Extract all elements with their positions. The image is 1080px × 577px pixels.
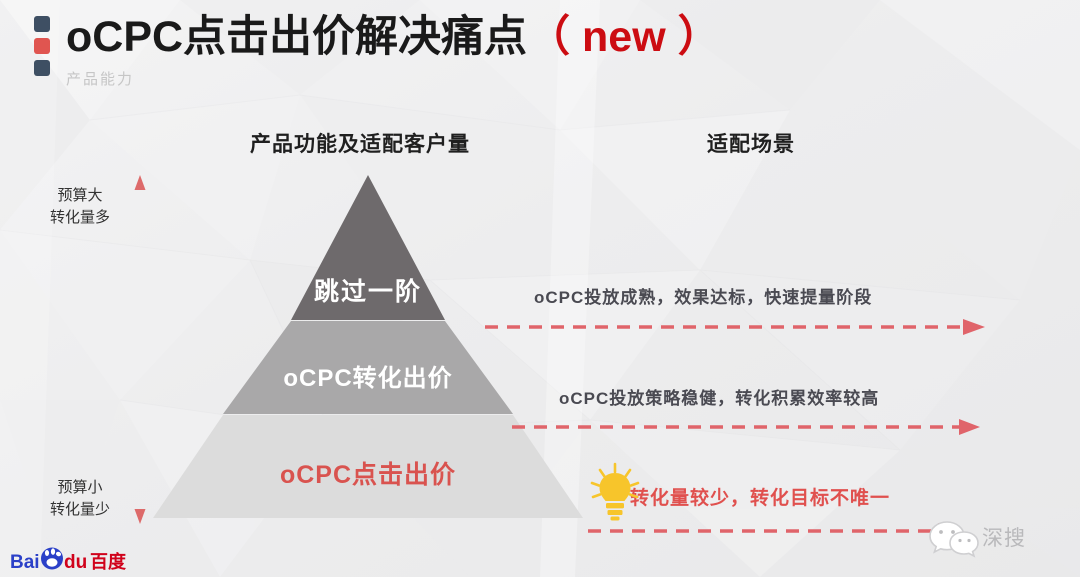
- baidu-logo-cn: 百度: [90, 551, 127, 573]
- scenario-text-1: oCPC投放成熟，效果达标，快速提量阶段: [534, 283, 872, 308]
- baidu-paw-icon: [41, 548, 63, 570]
- lightbulb-icon: [586, 461, 644, 523]
- baidu-logo-bai: Bai: [10, 552, 40, 573]
- baidu-logo: Bai du 百度: [8, 546, 140, 576]
- wechat-icon: [928, 519, 980, 559]
- scenario-text-3: 转化量较少，转化目标不唯一: [630, 483, 890, 510]
- axis-label-high-line2: 转化量多: [50, 207, 110, 229]
- baidu-logo-du: du: [64, 552, 87, 573]
- wechat-account-name: 深搜: [982, 522, 1026, 552]
- axis-label-high: 预算大 转化量多: [50, 185, 110, 229]
- axis-label-low-line2: 转化量少: [50, 499, 110, 521]
- axis-label-high-line1: 预算大: [50, 185, 110, 207]
- scenario-text-2: oCPC投放策略稳健，转化积累效率较高: [559, 384, 879, 409]
